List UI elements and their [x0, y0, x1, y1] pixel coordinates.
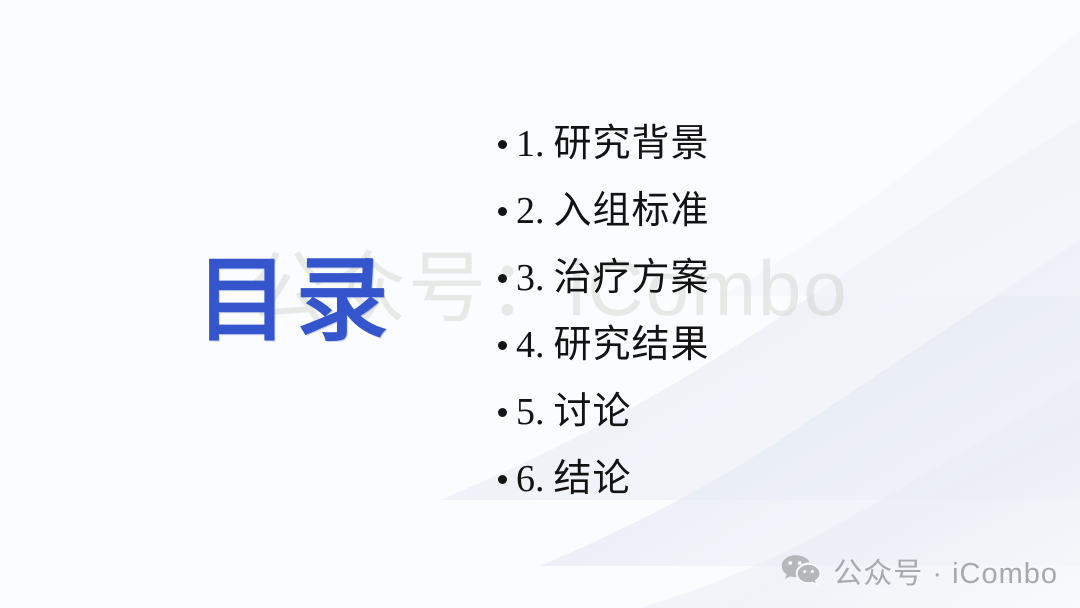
list-item-label: 讨论: [554, 380, 632, 435]
list-item[interactable]: 5. 讨论: [498, 380, 928, 447]
list-item-label: 结论: [554, 447, 632, 502]
wechat-icon: [781, 554, 821, 588]
brand-credit: 公众号 · iCombo: [781, 550, 1058, 592]
brand-label: 公众号 · iCombo: [833, 550, 1058, 592]
list-item-label: 研究结果: [554, 313, 710, 368]
list-item[interactable]: 4. 研究结果: [498, 313, 928, 380]
agenda-list: 1. 研究背景 2. 入组标准 3. 治疗方案 4. 研究结果 5. 讨论 6.…: [498, 112, 928, 514]
bullet-icon: [498, 207, 507, 216]
list-item-label: 治疗方案: [554, 246, 710, 301]
list-item-number: 4.: [516, 323, 545, 367]
list-item[interactable]: 2. 入组标准: [498, 179, 928, 246]
list-item[interactable]: 1. 研究背景: [498, 112, 928, 179]
list-item-label: 入组标准: [554, 179, 710, 234]
list-item[interactable]: 3. 治疗方案: [498, 246, 928, 313]
bullet-icon: [498, 274, 507, 283]
list-item[interactable]: 6. 结论: [498, 447, 928, 514]
bullet-icon: [498, 475, 507, 484]
list-item-number: 5.: [516, 390, 545, 434]
list-item-number: 6.: [516, 457, 545, 501]
list-item-number: 1.: [516, 122, 545, 166]
bullet-icon: [498, 140, 507, 149]
bullet-icon: [498, 341, 507, 350]
page-title: 目录: [196, 226, 396, 359]
list-item-number: 3.: [516, 256, 545, 300]
list-item-number: 2.: [516, 189, 545, 233]
bullet-icon: [498, 408, 507, 417]
presentation-slide: 公众号：iCombo 目录 1. 研究背景 2. 入组标准 3. 治疗方案 4.…: [0, 0, 1080, 608]
list-item-label: 研究背景: [554, 112, 710, 167]
